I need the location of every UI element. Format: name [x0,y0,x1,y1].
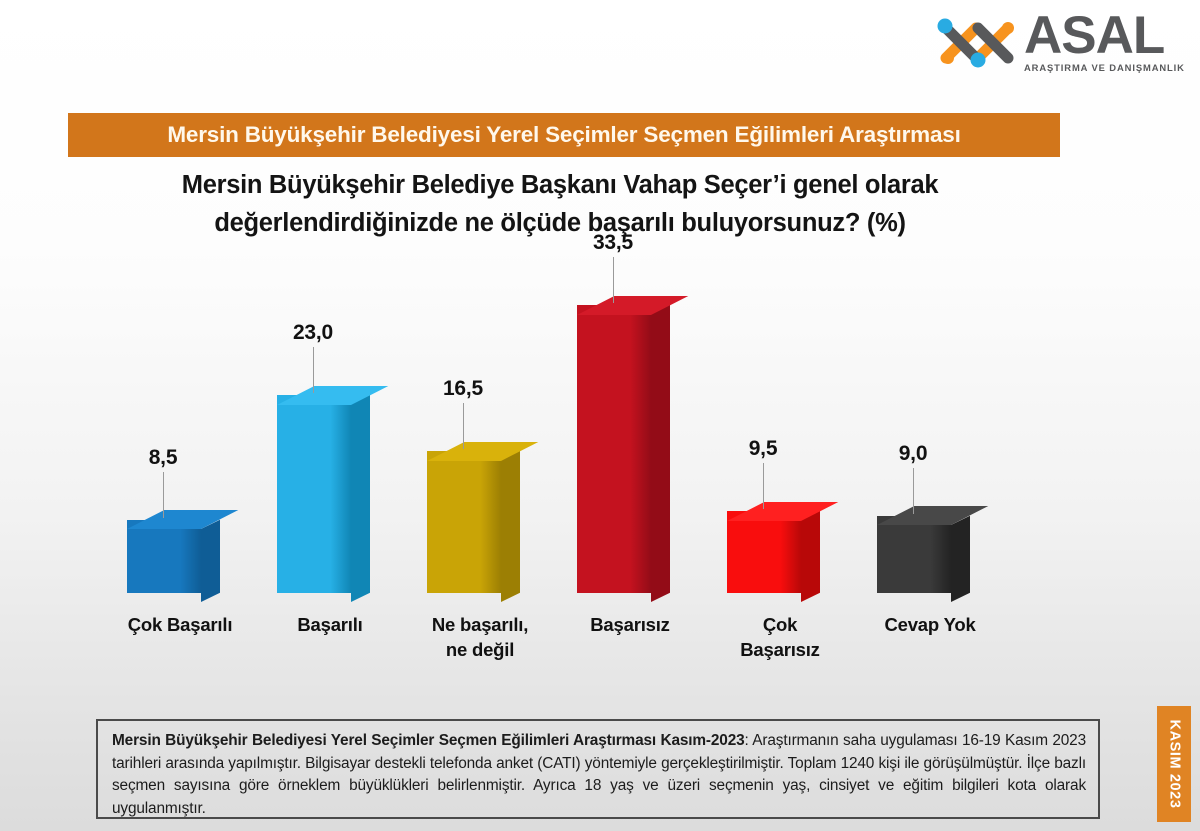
period-side-tab: KASIM 2023 [1157,706,1191,822]
bar-leader-line [613,257,614,303]
bar-4 [577,305,651,593]
bar-front-face [577,305,651,593]
bar-1 [127,520,201,593]
asal-logo: ASAL ARAŞTIRMA VE DANIŞMANLIK [932,8,1182,86]
chart-question: Mersin Büyükşehir Belediye Başkanı Vahap… [140,166,980,242]
asal-logo-mark-icon [932,12,1024,74]
bar-front-face [877,516,951,593]
bar-leader-line [163,472,164,518]
logo-wordmark: ASAL [1024,8,1182,64]
bar-value-label: 33,5 [573,231,653,255]
category-label-line: Çok [705,612,855,637]
bar-front-face [727,511,801,593]
chart-category-axis: Çok BaşarılıBaşarılıNe başarılı,ne değil… [100,612,1030,682]
bar-value-label: 9,5 [723,437,803,461]
bar-leader-line [763,463,764,509]
methodology-note-text: Mersin Büyükşehir Belediyesi Yerel Seçim… [112,730,1086,820]
period-side-tab-label: KASIM 2023 [1166,719,1182,808]
category-label-line: Cevap Yok [855,612,1005,637]
bar-side-face [501,451,520,602]
bar-side-face [351,395,370,602]
bar-value-label: 9,0 [873,442,953,466]
bar-group: 9,5 [705,240,855,593]
header-banner-title: Mersin Büyükşehir Belediyesi Yerel Seçim… [167,122,960,148]
logo-tagline: ARAŞTIRMA VE DANIŞMANLIK [1024,62,1182,73]
bar-group: 9,0 [855,240,1005,593]
methodology-note-bold: Mersin Büyükşehir Belediyesi Yerel Seçim… [112,732,745,749]
bar-leader-line [313,347,314,393]
bar-side-face [201,520,220,602]
bar-value-label: 16,5 [423,377,503,401]
bar-2 [277,395,351,593]
category-label-line: Başarılı [255,612,405,637]
bar-front-face [277,395,351,593]
category-label-line: Ne başarılı, [405,612,555,637]
category-label: Başarılı [255,612,405,637]
category-label-line: Çok Başarılı [105,612,255,637]
bar-3 [427,451,501,593]
bar-front-face [127,520,201,593]
category-label-line: ne değil [405,637,555,662]
header-banner: Mersin Büyükşehir Belediyesi Yerel Seçim… [68,113,1060,157]
chart-question-line-2: değerlendirdiğinizde ne ölçüde başarılı … [140,204,980,242]
bar-group: 23,0 [255,240,405,593]
bar-top-face [277,386,388,405]
category-label: Ne başarılı,ne değil [405,612,555,662]
category-label-line: Başarısız [705,637,855,662]
chart-plot-area: 8,523,016,533,59,59,0 [100,240,1030,593]
bar-leader-line [913,468,914,514]
category-label: Çok Başarılı [105,612,255,637]
category-label: Başarısız [555,612,705,637]
bar-group: 8,5 [105,240,255,593]
bar-side-face [951,515,970,602]
bar-value-label: 23,0 [273,321,353,345]
bar-top-face [727,502,838,521]
bar-top-face [427,442,538,461]
bar-leader-line [463,403,464,449]
bar-6 [877,516,951,593]
bar-chart: 8,523,016,533,59,59,0 [0,240,1080,600]
category-label: ÇokBaşarısız [705,612,855,662]
bar-group: 33,5 [555,240,705,593]
bar-5 [727,511,801,593]
bar-top-face [127,510,238,529]
bar-group: 16,5 [405,240,555,593]
methodology-note-box: Mersin Büyükşehir Belediyesi Yerel Seçim… [96,719,1100,819]
chart-question-line-1: Mersin Büyükşehir Belediye Başkanı Vahap… [140,166,980,204]
category-label: Cevap Yok [855,612,1005,637]
bar-front-face [427,451,501,593]
category-label-line: Başarısız [555,612,705,637]
bar-side-face [651,305,670,602]
bar-value-label: 8,5 [123,446,203,470]
bar-top-face [877,506,988,525]
bar-top-face [577,296,688,315]
bar-side-face [801,511,820,602]
